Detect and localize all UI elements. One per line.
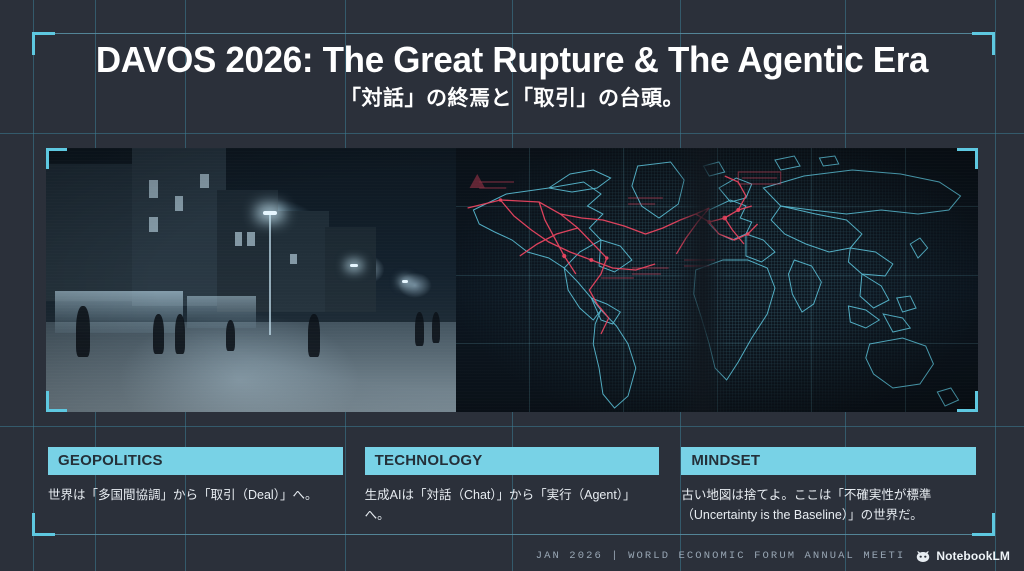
card-mindset: MINDSET 古い地図は捨てよ。ここは「不確実性が標準（Uncertainty… — [681, 447, 976, 526]
grid-line-horizontal — [0, 426, 1024, 427]
slide-footer: JAN 2026 | WORLD ECONOMIC FORUM ANNUAL M… — [536, 549, 1010, 563]
card-body: 生成AIは「対話（Chat）」から「実行（Agent）」へ。 — [365, 485, 660, 526]
image-bracket-bottom-right-icon — [957, 391, 978, 412]
footer-meta-text: JAN 2026 | WORLD ECONOMIC FORUM ANNUAL M… — [536, 550, 906, 562]
image-bracket-bottom-left-icon — [46, 391, 67, 412]
slide-canvas: DAVOS 2026: The Great Rupture & The Agen… — [0, 0, 1024, 571]
notebooklm-logo-icon — [915, 550, 931, 563]
card-body: 古い地図は捨てよ。ここは「不確実性が標準（Uncertainty is the … — [681, 485, 976, 526]
card-body: 世界は「多国間協調」から「取引（Deal）」へ。 — [48, 485, 343, 505]
hero-scanlines — [46, 148, 978, 412]
key-points-row: GEOPOLITICS 世界は「多国間協調」から「取引（Deal）」へ。 TEC… — [48, 447, 976, 526]
card-heading: GEOPOLITICS — [48, 447, 343, 475]
card-heading: TECHNOLOGY — [365, 447, 660, 475]
frame-edge-top — [33, 33, 994, 34]
card-heading: MINDSET — [681, 447, 976, 475]
image-bracket-top-right-icon — [957, 148, 978, 169]
page-title: DAVOS 2026: The Great Rupture & The Agen… — [15, 40, 1008, 80]
notebooklm-badge: NotebookLM — [915, 549, 1010, 563]
title-block: DAVOS 2026: The Great Rupture & The Agen… — [0, 40, 1024, 112]
card-geopolitics: GEOPOLITICS 世界は「多国間協調」から「取引（Deal）」へ。 — [48, 447, 343, 526]
grid-line-horizontal — [0, 133, 1024, 134]
card-technology: TECHNOLOGY 生成AIは「対話（Chat）」から「実行（Agent）」へ… — [365, 447, 660, 526]
page-subtitle: 「対話」の終焉と「取引」の台頭。 — [0, 82, 1024, 112]
frame-edge-bottom — [33, 534, 994, 535]
notebooklm-label: NotebookLM — [936, 549, 1010, 563]
hero-image-panel — [46, 148, 978, 412]
image-bracket-top-left-icon — [46, 148, 67, 169]
